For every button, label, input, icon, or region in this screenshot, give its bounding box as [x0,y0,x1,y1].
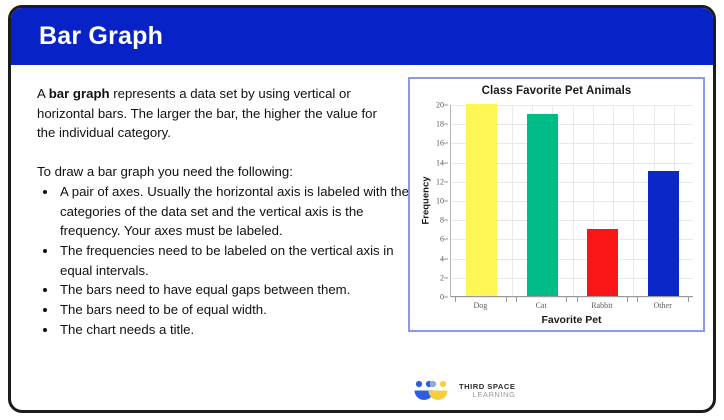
list-item: The frequencies need to be labeled on th… [58,241,409,280]
logo-line-2: LEARNING [459,391,515,399]
y-tick-label: 20 [436,101,444,110]
intro-paragraph: A bar graph represents a data set by usi… [37,84,397,143]
y-tick-mark [444,105,448,106]
y-tick-label: 18 [436,120,444,129]
chart-column: Class Favorite Pet Animals Frequency 024… [403,65,713,413]
y-axis-ticks: 02468101214161820 [424,105,448,297]
x-axis-label: Favorite Pet [450,314,693,326]
bar-rabbit [587,229,618,296]
logo-wordmark: THIRD SPACE LEARNING [459,383,515,399]
list-lead-text: To draw a bar graph you need the followi… [37,162,403,182]
chart-title: Class Favorite Pet Animals [410,85,703,97]
bar-dog [466,104,497,296]
slide-header: Bar Graph [11,8,713,65]
list-item: The bars need to have equal gaps between… [58,280,409,300]
plot-wrapper: Frequency 02468101214161820 DogCatRabbit… [410,105,707,330]
y-tick-mark [444,277,448,278]
x-tick-label: Dog [473,301,487,310]
x-tick-label: Rabbit [591,301,612,310]
intro-prefix: A [37,86,49,101]
y-tick-mark [444,201,448,202]
x-tick-label: Other [654,301,672,310]
text-column: A bar graph represents a data set by usi… [11,65,403,413]
grid-line-vertical [633,105,634,296]
list-item: The chart needs a title. [58,320,409,340]
x-axis-categories: DogCatRabbitOther [450,301,693,315]
y-tick-mark [444,124,448,125]
slide-body: A bar graph represents a data set by usi… [11,65,713,413]
y-tick-mark [444,181,448,182]
list-item: A pair of axes. Usually the horizontal a… [58,182,409,241]
bar-chart: Class Favorite Pet Animals Frequency 024… [408,77,705,332]
slide-card: Bar Graph A bar graph represents a data … [8,5,716,413]
y-tick-label: 10 [436,197,444,206]
page-title: Bar Graph [39,22,163,51]
y-tick-label: 12 [436,177,444,186]
grid-line-vertical [512,105,513,296]
y-tick-mark [444,258,448,259]
intro-bold-term: bar graph [49,86,110,101]
y-tick-label: 14 [436,158,444,167]
list-item: The bars need to be of equal width. [58,300,409,320]
y-tick-mark [444,297,448,298]
x-tick-label: Cat [536,301,547,310]
y-tick-mark [444,162,448,163]
y-tick-label: 16 [436,139,444,148]
bar-other [648,171,679,296]
requirements-list: A pair of axes. Usually the horizontal a… [37,182,409,339]
grid-line-vertical [573,105,574,296]
y-tick-mark [444,220,448,221]
brand-logo: THIRD SPACE LEARNING [411,378,515,404]
plot-area [450,105,693,297]
y-tick-mark [444,143,448,144]
third-space-learning-logo-icon [411,378,453,404]
y-tick-mark [444,239,448,240]
bar-cat [527,114,558,296]
